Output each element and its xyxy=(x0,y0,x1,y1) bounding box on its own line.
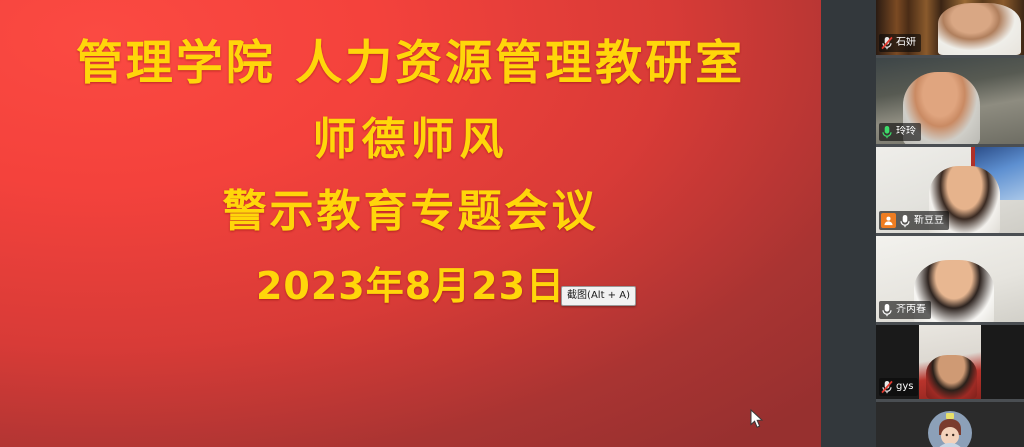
participant-nameplate: 齐丙春 xyxy=(879,301,931,319)
screenshot-shortcut-tooltip: 截图(Alt + A) xyxy=(561,286,636,306)
mic-muted-icon xyxy=(881,380,893,394)
participant-avatar-placeholder xyxy=(876,402,1024,447)
participant-name: 靳豆豆 xyxy=(914,215,944,227)
participant-tile-host[interactable]: 靳豆豆 xyxy=(876,147,1024,233)
participant-tile[interactable]: 齐丙春 xyxy=(876,236,1024,322)
slide-date: 2023年8月23日 xyxy=(256,266,565,308)
participant-tile-speaking[interactable]: 玲玲 xyxy=(876,58,1024,144)
mic-on-icon xyxy=(899,214,911,228)
participant-name: 石妍 xyxy=(896,37,916,49)
meeting-background-gutter xyxy=(821,0,876,447)
host-badge-icon xyxy=(881,213,896,228)
participant-name: gys xyxy=(896,381,913,393)
avatar xyxy=(922,405,978,447)
mic-on-icon xyxy=(881,303,893,317)
slide-subtitle-secondary: 警示教育专题会议 xyxy=(223,188,599,236)
participant-tile-avatar[interactable] xyxy=(876,402,1024,447)
slide-subtitle-primary: 师德师风 xyxy=(313,116,509,164)
shared-screen-area[interactable]: 管理学院 人力资源管理教研室 师德师风 警示教育专题会议 2023年8月23日 … xyxy=(0,0,821,447)
mic-muted-icon xyxy=(881,36,893,50)
participant-tile[interactable]: 石妍 xyxy=(876,0,1024,55)
participant-nameplate: gys xyxy=(879,378,918,396)
participant-name: 玲玲 xyxy=(896,126,916,138)
slide-date-row: 2023年8月23日 截图(Alt + A) xyxy=(256,266,565,308)
participant-nameplate: 靳豆豆 xyxy=(879,211,949,230)
participant-nameplate: 石妍 xyxy=(879,34,921,52)
presentation-slide: 管理学院 人力资源管理教研室 师德师风 警示教育专题会议 2023年8月23日 … xyxy=(0,0,821,447)
participant-name: 齐丙春 xyxy=(896,304,926,316)
participant-video-strip[interactable]: 石妍 玲玲 xyxy=(876,0,1024,447)
screen-share-meeting-window: 管理学院 人力资源管理教研室 师德师风 警示教育专题会议 2023年8月23日 … xyxy=(0,0,1024,447)
slide-title: 管理学院 人力资源管理教研室 xyxy=(76,38,745,90)
participant-tile[interactable]: gys xyxy=(876,325,1024,399)
mic-active-icon xyxy=(881,125,893,139)
participant-nameplate: 玲玲 xyxy=(879,123,921,141)
